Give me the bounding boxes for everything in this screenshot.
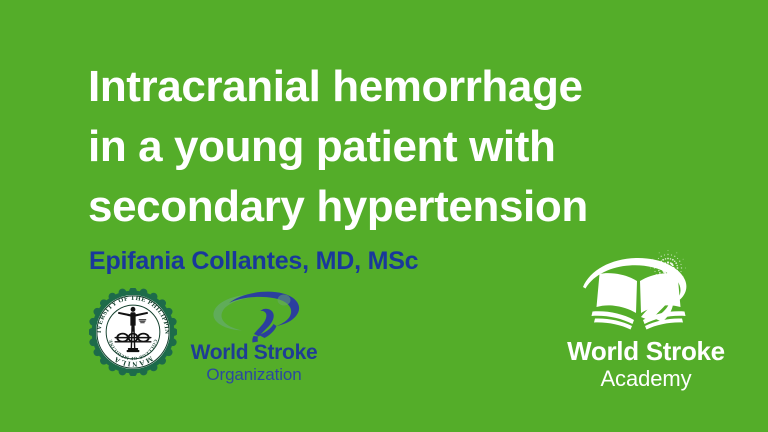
- presentation-title-slide: Intracranial hemorrhage in a young patie…: [0, 0, 768, 432]
- university-seal-icon: UNIVERSITY OF THE PHILIPPINES MANILA COL…: [89, 288, 177, 376]
- wsa-wordmark: World Stroke Academy: [540, 336, 752, 392]
- wsa-secondary-text: Academy: [540, 366, 752, 392]
- world-stroke-academy-logo: World Stroke Academy: [540, 250, 752, 398]
- page-title: Intracranial hemorrhage in a young patie…: [88, 57, 708, 237]
- open-book-swoosh-icon: [570, 250, 710, 338]
- author-name: Epifania Collantes, MD, MSc: [89, 246, 418, 276]
- title-line-1: Intracranial hemorrhage: [88, 57, 708, 117]
- title-line-2: in a young patient with: [88, 117, 708, 177]
- wsa-primary-text: World Stroke: [540, 336, 752, 366]
- wso-swoosh-icon: [198, 289, 308, 343]
- world-stroke-organization-logo: World Stroke Organization: [188, 289, 320, 385]
- title-line-3: secondary hypertension: [88, 177, 708, 237]
- wso-wordmark: World Stroke Organization: [188, 341, 320, 385]
- wso-primary-text: World Stroke: [188, 341, 320, 365]
- up-manila-seal-logo: UNIVERSITY OF THE PHILIPPINES MANILA COL…: [89, 288, 177, 376]
- wso-secondary-text: Organization: [188, 365, 320, 385]
